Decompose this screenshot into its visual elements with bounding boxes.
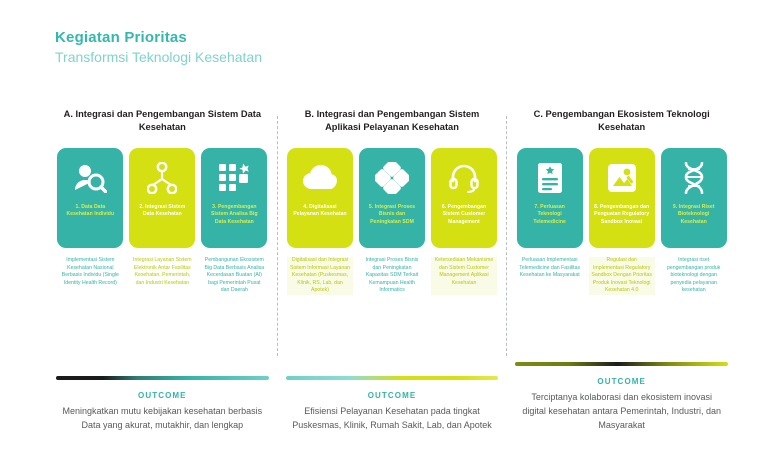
descriptions-row: Digitalisasi dan Integrasi Sistem Inform… bbox=[284, 257, 501, 295]
outcome-label: OUTCOME bbox=[54, 391, 271, 400]
priority-card[interactable]: 8. Pengembangan dan Penguatan Regulatory… bbox=[589, 148, 655, 248]
column-group-1: B. Integrasi dan Pengembangan Sistem Apl… bbox=[278, 108, 507, 438]
card-label: 5. Integrasi Proses Bisnis dan Peningkat… bbox=[359, 204, 425, 226]
columns-container: A. Integrasi dan Pengembangan Sistem Dat… bbox=[48, 108, 736, 438]
headset-support-icon bbox=[446, 161, 482, 195]
network-nodes-icon bbox=[144, 161, 180, 195]
card-label: 1. Data Data Kesehatan Individu bbox=[57, 204, 123, 219]
innovation-image-icon bbox=[604, 161, 640, 195]
cards-row: 1. Data Data Kesehatan Individu 2. Integ… bbox=[54, 148, 271, 248]
descriptions-row: Perluasan Implementasi Telemedicine dan … bbox=[513, 257, 730, 295]
outcome-text: Efisiensi Pelayanan Kesehatan pada tingk… bbox=[284, 404, 501, 432]
card-label: 9. Integrasi Riset Bioteknologi Kesehata… bbox=[661, 204, 727, 226]
descriptions-row: Implementasi Sistem Kesehatan Nasional B… bbox=[54, 257, 271, 295]
page-title: Kegiatan Prioritas bbox=[55, 28, 262, 47]
header: Kegiatan Prioritas Transformsi Teknologi… bbox=[55, 28, 262, 67]
cards-row: 4. Digitalisasi Pelayanan Kesehatan 5. I… bbox=[284, 148, 501, 248]
outcome-label: OUTCOME bbox=[284, 391, 501, 400]
card-label: 3. Pengembangan Sistem Analisa Big Data … bbox=[201, 204, 267, 226]
column-heading: B. Integrasi dan Pengembangan Sistem Apl… bbox=[284, 108, 501, 136]
column-heading: C. Pengembangan Ekosistem Teknologi Kese… bbox=[513, 108, 730, 136]
diamond-cross-icon bbox=[374, 161, 410, 195]
card-label: 8. Pengembangan dan Penguatan Regulatory… bbox=[589, 204, 655, 226]
description-text: Integrasi Layanan Sistem Elektronik Anta… bbox=[129, 257, 195, 295]
page-subtitle: Transformsi Teknologi Kesehatan bbox=[55, 48, 262, 67]
descriptions-area: Implementasi Sistem Kesehatan Nasional B… bbox=[54, 248, 271, 334]
card-label: 4. Digitalisasi Pelayanan Kesehatan bbox=[287, 204, 353, 219]
priority-card[interactable]: 3. Pengembangan Sistem Analisa Big Data … bbox=[201, 148, 267, 248]
outcome-block: OUTCOMEMeningkatkan mutu kebijakan keseh… bbox=[54, 376, 271, 438]
data-grid-icon bbox=[216, 161, 252, 195]
description-text: Pembangunan Ekosistem Big Data Berbasis … bbox=[201, 257, 267, 295]
priority-card[interactable]: 2. Integrasi Sistem Data Kesehatan bbox=[129, 148, 195, 248]
description-text: Digitalisasi dan Integrasi Sistem Inform… bbox=[287, 257, 353, 295]
description-text: Perluasan Implementasi Telemedicine dan … bbox=[517, 257, 583, 295]
card-label: 7. Perluasan Teknologi Telemedicine bbox=[517, 204, 583, 226]
dna-helix-icon bbox=[676, 161, 712, 195]
outcome-bar bbox=[515, 362, 728, 366]
outcome-label: OUTCOME bbox=[513, 377, 730, 386]
cards-row: 7. Perluasan Teknologi Telemedicine 8. P… bbox=[513, 148, 730, 248]
outcome-block: OUTCOMEEfisiensi Pelayanan Kesehatan pad… bbox=[284, 376, 501, 438]
description-text: Ketersediaan Mekanisme dan Sistem Custom… bbox=[431, 257, 497, 295]
description-text: Integrasi Proses Bisnis dan Peningkatan … bbox=[359, 257, 425, 295]
outcome-bar bbox=[286, 376, 499, 380]
column-group-2: C. Pengembangan Ekosistem Teknologi Kese… bbox=[507, 108, 736, 438]
priority-card[interactable]: 9. Integrasi Riset Bioteknologi Kesehata… bbox=[661, 148, 727, 248]
outcome-text: Meningkatkan mutu kebijakan kesehatan be… bbox=[54, 404, 271, 432]
priority-card[interactable]: 5. Integrasi Proses Bisnis dan Peningkat… bbox=[359, 148, 425, 248]
user-search-icon bbox=[72, 161, 108, 195]
description-text: Regulasi dan Implementasi Regulatory San… bbox=[589, 257, 655, 295]
descriptions-area: Digitalisasi dan Integrasi Sistem Inform… bbox=[284, 248, 501, 334]
card-label: 2. Integrasi Sistem Data Kesehatan bbox=[129, 204, 195, 219]
outcome-bar bbox=[56, 376, 269, 380]
description-text: Integrasi riset pengembangan produk biot… bbox=[661, 257, 727, 295]
cloud-icon bbox=[302, 161, 338, 195]
priority-card[interactable]: 1. Data Data Kesehatan Individu bbox=[57, 148, 123, 248]
outcome-block: OUTCOMETerciptanya kolaborasi dan ekosis… bbox=[513, 362, 730, 438]
description-text: Implementasi Sistem Kesehatan Nasional B… bbox=[57, 257, 123, 295]
priority-card[interactable]: 6. Pengembangan Sistem Customer Manageme… bbox=[431, 148, 497, 248]
column-heading: A. Integrasi dan Pengembangan Sistem Dat… bbox=[54, 108, 271, 136]
medical-document-icon bbox=[532, 161, 568, 195]
card-label: 6. Pengembangan Sistem Customer Manageme… bbox=[431, 204, 497, 226]
outcome-text: Terciptanya kolaborasi dan ekosistem ino… bbox=[513, 390, 730, 432]
priority-card[interactable]: 4. Digitalisasi Pelayanan Kesehatan bbox=[287, 148, 353, 248]
descriptions-area: Perluasan Implementasi Telemedicine dan … bbox=[513, 248, 730, 334]
priority-card[interactable]: 7. Perluasan Teknologi Telemedicine bbox=[517, 148, 583, 248]
column-group-0: A. Integrasi dan Pengembangan Sistem Dat… bbox=[48, 108, 277, 438]
infographic-page: Kegiatan Prioritas Transformsi Teknologi… bbox=[0, 0, 768, 452]
